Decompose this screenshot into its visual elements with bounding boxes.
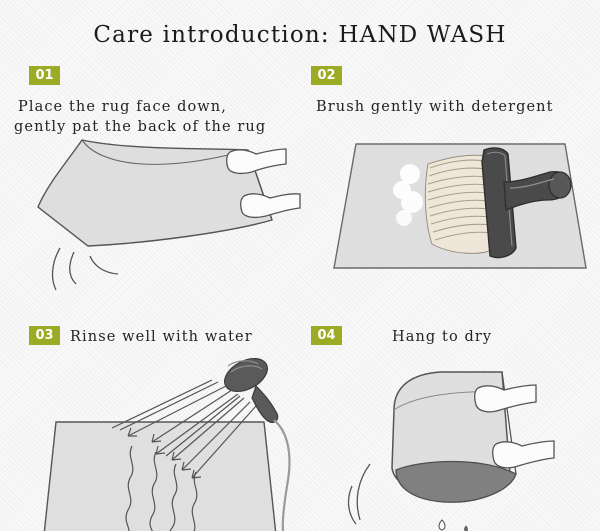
step-caption-02-line1: Brush gently with detergent bbox=[316, 97, 554, 117]
step-caption-04-line1: Hang to dry bbox=[392, 327, 492, 347]
motion-arc-1 bbox=[53, 248, 60, 290]
page-title: Care introduction: HAND WASH bbox=[0, 22, 600, 48]
step-badge-03: 03 bbox=[29, 326, 60, 345]
step-badge-02-label: 02 bbox=[317, 69, 335, 82]
hand-upper-icon bbox=[475, 385, 536, 412]
step-caption-01-line1: Place the rug face down, bbox=[18, 97, 227, 117]
rug-underside bbox=[396, 462, 516, 503]
rug-panel bbox=[44, 422, 276, 531]
illustration-step-01 bbox=[0, 128, 310, 308]
care-instructions-infographic: Care introduction: HAND WASH 01 Place th… bbox=[0, 0, 600, 531]
water-drop-1 bbox=[439, 520, 445, 530]
illustration-step-04 bbox=[330, 352, 600, 531]
suds-bubble-3 bbox=[401, 191, 423, 213]
motion-arc-3 bbox=[90, 256, 118, 274]
motion-arc-1 bbox=[357, 464, 370, 520]
motion-arc-2 bbox=[349, 486, 356, 524]
shower-neck bbox=[252, 386, 278, 422]
brush-handle-cap bbox=[549, 172, 571, 198]
water-drop-2 bbox=[465, 526, 468, 531]
step-badge-01-label: 01 bbox=[35, 69, 53, 82]
illustration-step-03 bbox=[0, 350, 330, 531]
suds-bubble-1 bbox=[400, 164, 420, 184]
hand-lower-icon bbox=[493, 441, 554, 468]
suds-bubble-4 bbox=[396, 210, 412, 226]
step-caption-03-line1: Rinse well with water bbox=[70, 327, 253, 347]
hand-lower-icon bbox=[241, 194, 300, 218]
step-badge-04: 04 bbox=[311, 326, 342, 345]
step-badge-03-label: 03 bbox=[35, 329, 53, 342]
illustration-step-02 bbox=[320, 132, 600, 287]
hand-upper-icon bbox=[227, 149, 286, 173]
step-badge-01: 01 bbox=[29, 66, 60, 85]
step-badge-04-label: 04 bbox=[317, 329, 335, 342]
motion-arc-2 bbox=[70, 252, 76, 284]
shower-hose bbox=[274, 420, 289, 531]
step-badge-02: 02 bbox=[311, 66, 342, 85]
